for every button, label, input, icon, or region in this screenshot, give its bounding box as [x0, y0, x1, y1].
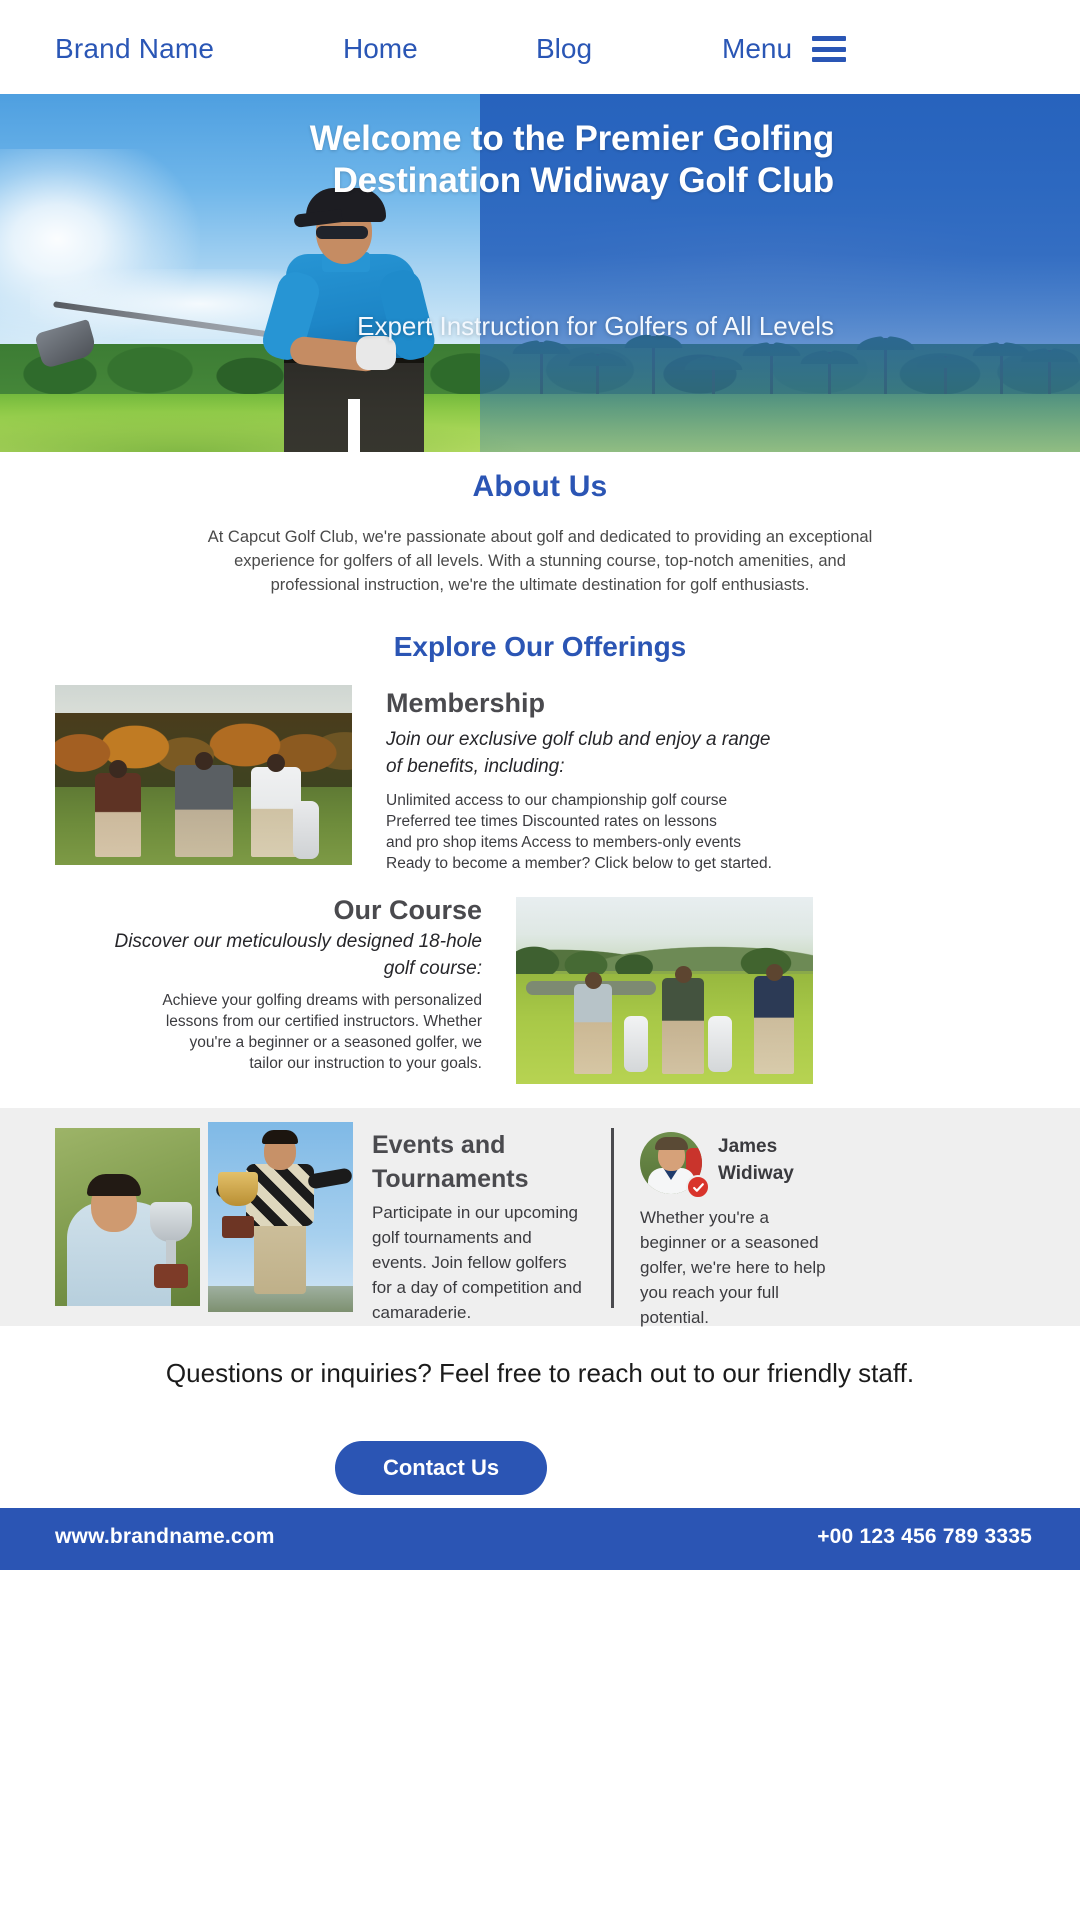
testimonial-divider: [611, 1128, 614, 1308]
nav-link-home[interactable]: Home: [343, 33, 418, 65]
brand-logo[interactable]: Brand Name: [55, 33, 214, 65]
footer-website[interactable]: www.brandname.com: [55, 1525, 275, 1549]
events-body-text: Participate in our upcoming golf tournam…: [372, 1200, 587, 1325]
membership-benefits-list: Unlimited access to our championship gol…: [386, 790, 806, 874]
contact-us-button[interactable]: Contact Us: [335, 1441, 547, 1495]
about-text: At Capcut Golf Club, we're passionate ab…: [190, 525, 890, 597]
hamburger-menu-icon[interactable]: [812, 36, 846, 62]
course-body-text: Achieve your golfing dreams with persona…: [152, 990, 482, 1074]
landing-page: Brand Name Home Blog Menu: [0, 0, 1080, 1920]
membership-heading: Membership: [386, 688, 545, 719]
navbar: Brand Name Home Blog Menu: [0, 0, 1080, 94]
testimonial-name: James Widiway: [718, 1133, 848, 1187]
nav-link-menu[interactable]: Menu: [722, 33, 792, 65]
membership-image: [55, 685, 352, 865]
events-heading: Events and Tournaments: [372, 1128, 602, 1196]
about-title: About Us: [0, 470, 1080, 504]
testimonial-quote: Whether you're a beginner or a seasoned …: [640, 1205, 835, 1330]
membership-intro: Join our exclusive golf club and enjoy a…: [386, 726, 791, 780]
verified-check-icon: [686, 1175, 710, 1199]
events-image-trophy-golfer: [55, 1128, 200, 1306]
course-intro: Discover our meticulously designed 18-ho…: [112, 928, 482, 982]
course-image: [516, 897, 813, 1084]
nav-link-blog[interactable]: Blog: [536, 33, 592, 65]
hero-section: Welcome to the Premier Golfing Destinati…: [0, 94, 1080, 452]
events-image-champion-golfer: [208, 1122, 353, 1312]
contact-prompt-text: Questions or inquiries? Feel free to rea…: [0, 1355, 1080, 1391]
footer-phone[interactable]: +00 123 456 789 3335: [817, 1525, 1032, 1549]
hero-title: Welcome to the Premier Golfing Destinati…: [274, 118, 834, 202]
explore-title: Explore Our Offerings: [0, 631, 1080, 663]
hero-subtitle: Expert Instruction for Golfers of All Le…: [334, 309, 834, 343]
course-heading: Our Course: [333, 895, 482, 926]
